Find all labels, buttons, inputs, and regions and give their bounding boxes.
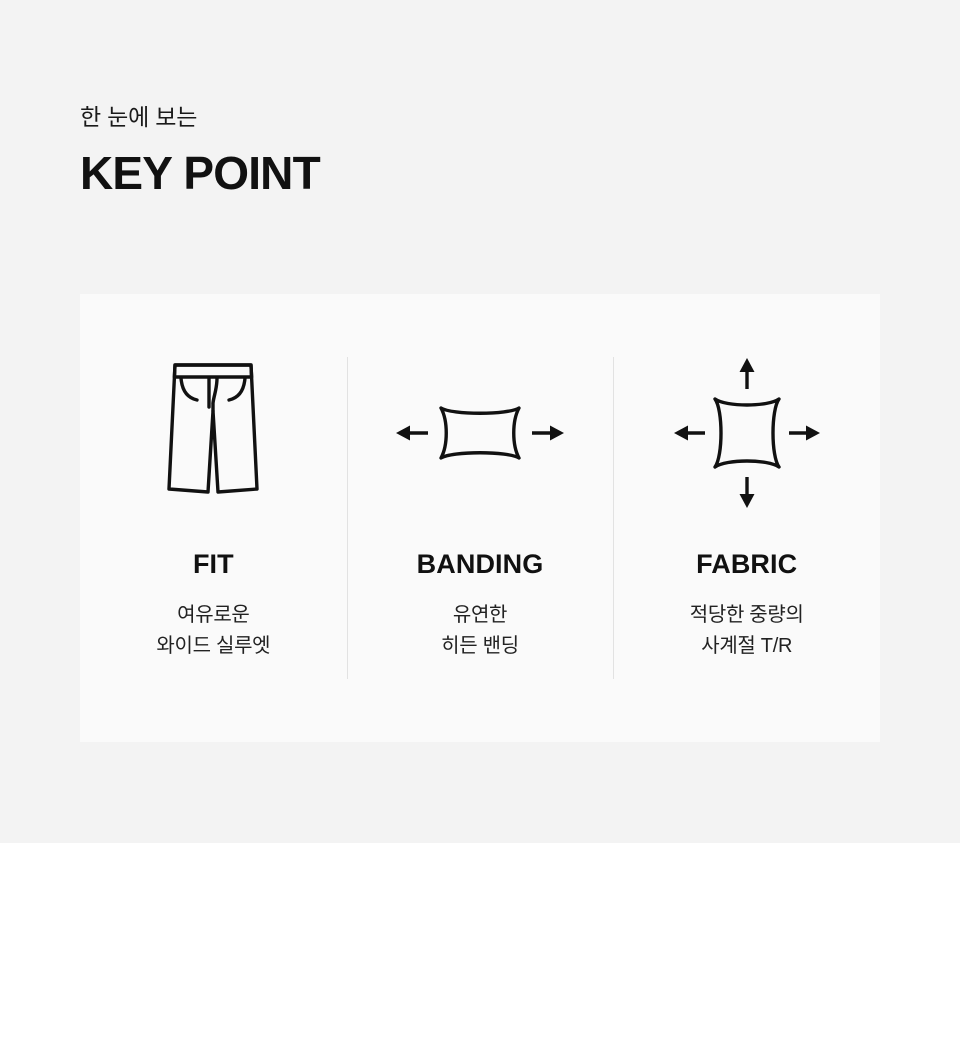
- page-heading: 한 눈에 보는 KEY POINT: [80, 100, 320, 200]
- keypoint-description-line2: 히든 밴딩: [441, 631, 519, 662]
- keypoint-title: BANDING: [417, 548, 544, 580]
- horizontal-stretch-icon: [390, 338, 570, 528]
- keypoint-description: 유연한 히든 밴딩: [441, 600, 519, 662]
- page-title: KEY POINT: [80, 146, 320, 200]
- keypoint-title: FABRIC: [696, 548, 797, 580]
- keypoint-description: 여유로운 와이드 실루엣: [156, 600, 270, 662]
- keypoint-item-fabric: FABRIC 적당한 중량의 사계절 T/R: [613, 294, 880, 742]
- keypoint-item-fit: FIT 여유로운 와이드 실루엣: [80, 294, 347, 742]
- keypoint-description-line1: 여유로운: [156, 600, 270, 631]
- keypoint-description-line1: 적당한 중량의: [690, 600, 804, 631]
- keypoint-card: FIT 여유로운 와이드 실루엣 BANDING: [80, 294, 880, 742]
- keypoint-description-line2: 사계절 T/R: [690, 631, 804, 662]
- keypoint-title: FIT: [193, 548, 234, 580]
- heading-subtitle: 한 눈에 보는: [80, 100, 320, 134]
- keypoint-description-line2: 와이드 실루엣: [156, 631, 270, 662]
- four-way-stretch-icon: [672, 338, 822, 528]
- keypoint-description: 적당한 중량의 사계절 T/R: [690, 600, 804, 662]
- keypoint-hero-section: 한 눈에 보는 KEY POINT: [0, 0, 960, 843]
- keypoint-description-line1: 유연한: [441, 600, 519, 631]
- wide-leg-pants-icon: [161, 338, 265, 528]
- keypoint-item-banding: BANDING 유연한 히든 밴딩: [347, 294, 614, 742]
